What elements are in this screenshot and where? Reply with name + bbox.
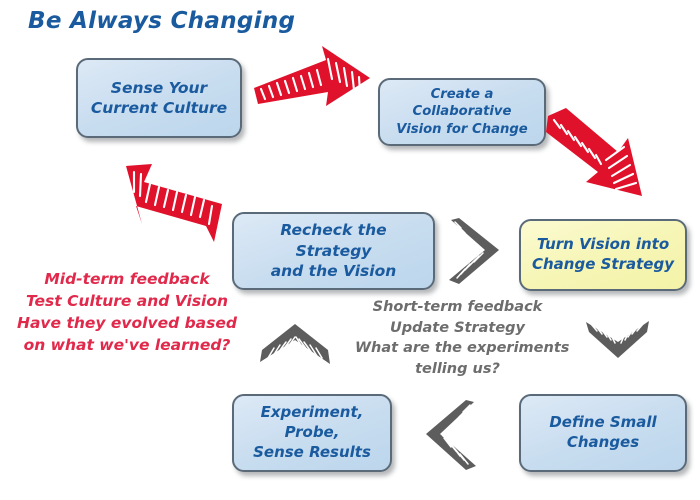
process-box-turn-vision-into-change-strategy[interactable]: Turn Vision into Change Strategy — [519, 219, 687, 291]
annotation-mid-term-feedback: Mid-term feedback Test Culture and Visio… — [12, 268, 242, 356]
gray-chevron-right-icon — [443, 216, 507, 286]
page-title: Be Always Changing — [28, 8, 295, 34]
red-arrow-vision-to-change-strategy-icon — [540, 98, 660, 224]
annotation-line-2: Update Strategy — [355, 318, 560, 339]
box-line-2: Sense Results — [242, 443, 382, 463]
box-line-1: Experiment, Probe, — [242, 403, 382, 443]
box-line-1: Define Small — [549, 413, 656, 433]
box-label: Define Small Changes — [549, 413, 656, 453]
process-box-sense-your-current-culture[interactable]: Sense Your Current Culture — [76, 58, 242, 138]
process-box-create-a-collaborative-vision-for-change[interactable]: Create a Collaborative Vision for Change — [378, 78, 546, 146]
diagram-canvas: Be Always Changing Sense Your Current Cu… — [0, 0, 700, 500]
box-label: Experiment, Probe, Sense Results — [242, 403, 382, 462]
box-label: Create a Collaborative Vision for Change — [388, 86, 536, 138]
annotation-line-1: Mid-term feedback — [12, 268, 242, 290]
annotation-line-4: on what we've learned? — [12, 334, 242, 356]
box-line-1: Turn Vision into — [532, 235, 674, 255]
annotation-short-term-feedback: Short-term feedback Update Strategy What… — [355, 297, 560, 379]
box-line-1: Recheck the Strategy — [242, 220, 425, 261]
annotation-line-3: Have they evolved based — [12, 312, 242, 334]
red-arrow-recheck-to-sense-icon — [112, 152, 236, 260]
box-line-2: Current Culture — [91, 98, 227, 118]
box-label: Sense Your Current Culture — [91, 78, 227, 119]
box-line-2: Vision for Change — [388, 121, 536, 138]
process-box-experiment-probe-sense-results[interactable]: Experiment, Probe, Sense Results — [232, 394, 392, 472]
box-label: Turn Vision into Change Strategy — [532, 235, 674, 275]
box-line-2: Change Strategy — [532, 255, 674, 275]
annotation-line-2: Test Culture and Vision — [12, 290, 242, 312]
process-box-recheck-the-strategy-and-the-vision[interactable]: Recheck the Strategy and the Vision — [232, 212, 435, 290]
gray-chevron-up-icon — [258, 312, 332, 374]
box-line-2: Changes — [549, 433, 656, 453]
box-label: Recheck the Strategy and the Vision — [242, 220, 425, 281]
gray-chevron-down-icon — [583, 316, 653, 378]
annotation-line-4: telling us? — [355, 359, 560, 380]
annotation-line-1: Short-term feedback — [355, 297, 560, 318]
red-arrow-sense-to-vision-icon — [252, 42, 374, 138]
annotation-line-3: What are the experiments — [355, 338, 560, 359]
box-line-1: Create a Collaborative — [388, 86, 536, 121]
gray-chevron-left-icon — [418, 398, 484, 472]
box-line-1: Sense Your — [91, 78, 227, 98]
box-line-2: and the Vision — [242, 261, 425, 281]
process-box-define-small-changes[interactable]: Define Small Changes — [519, 394, 687, 472]
